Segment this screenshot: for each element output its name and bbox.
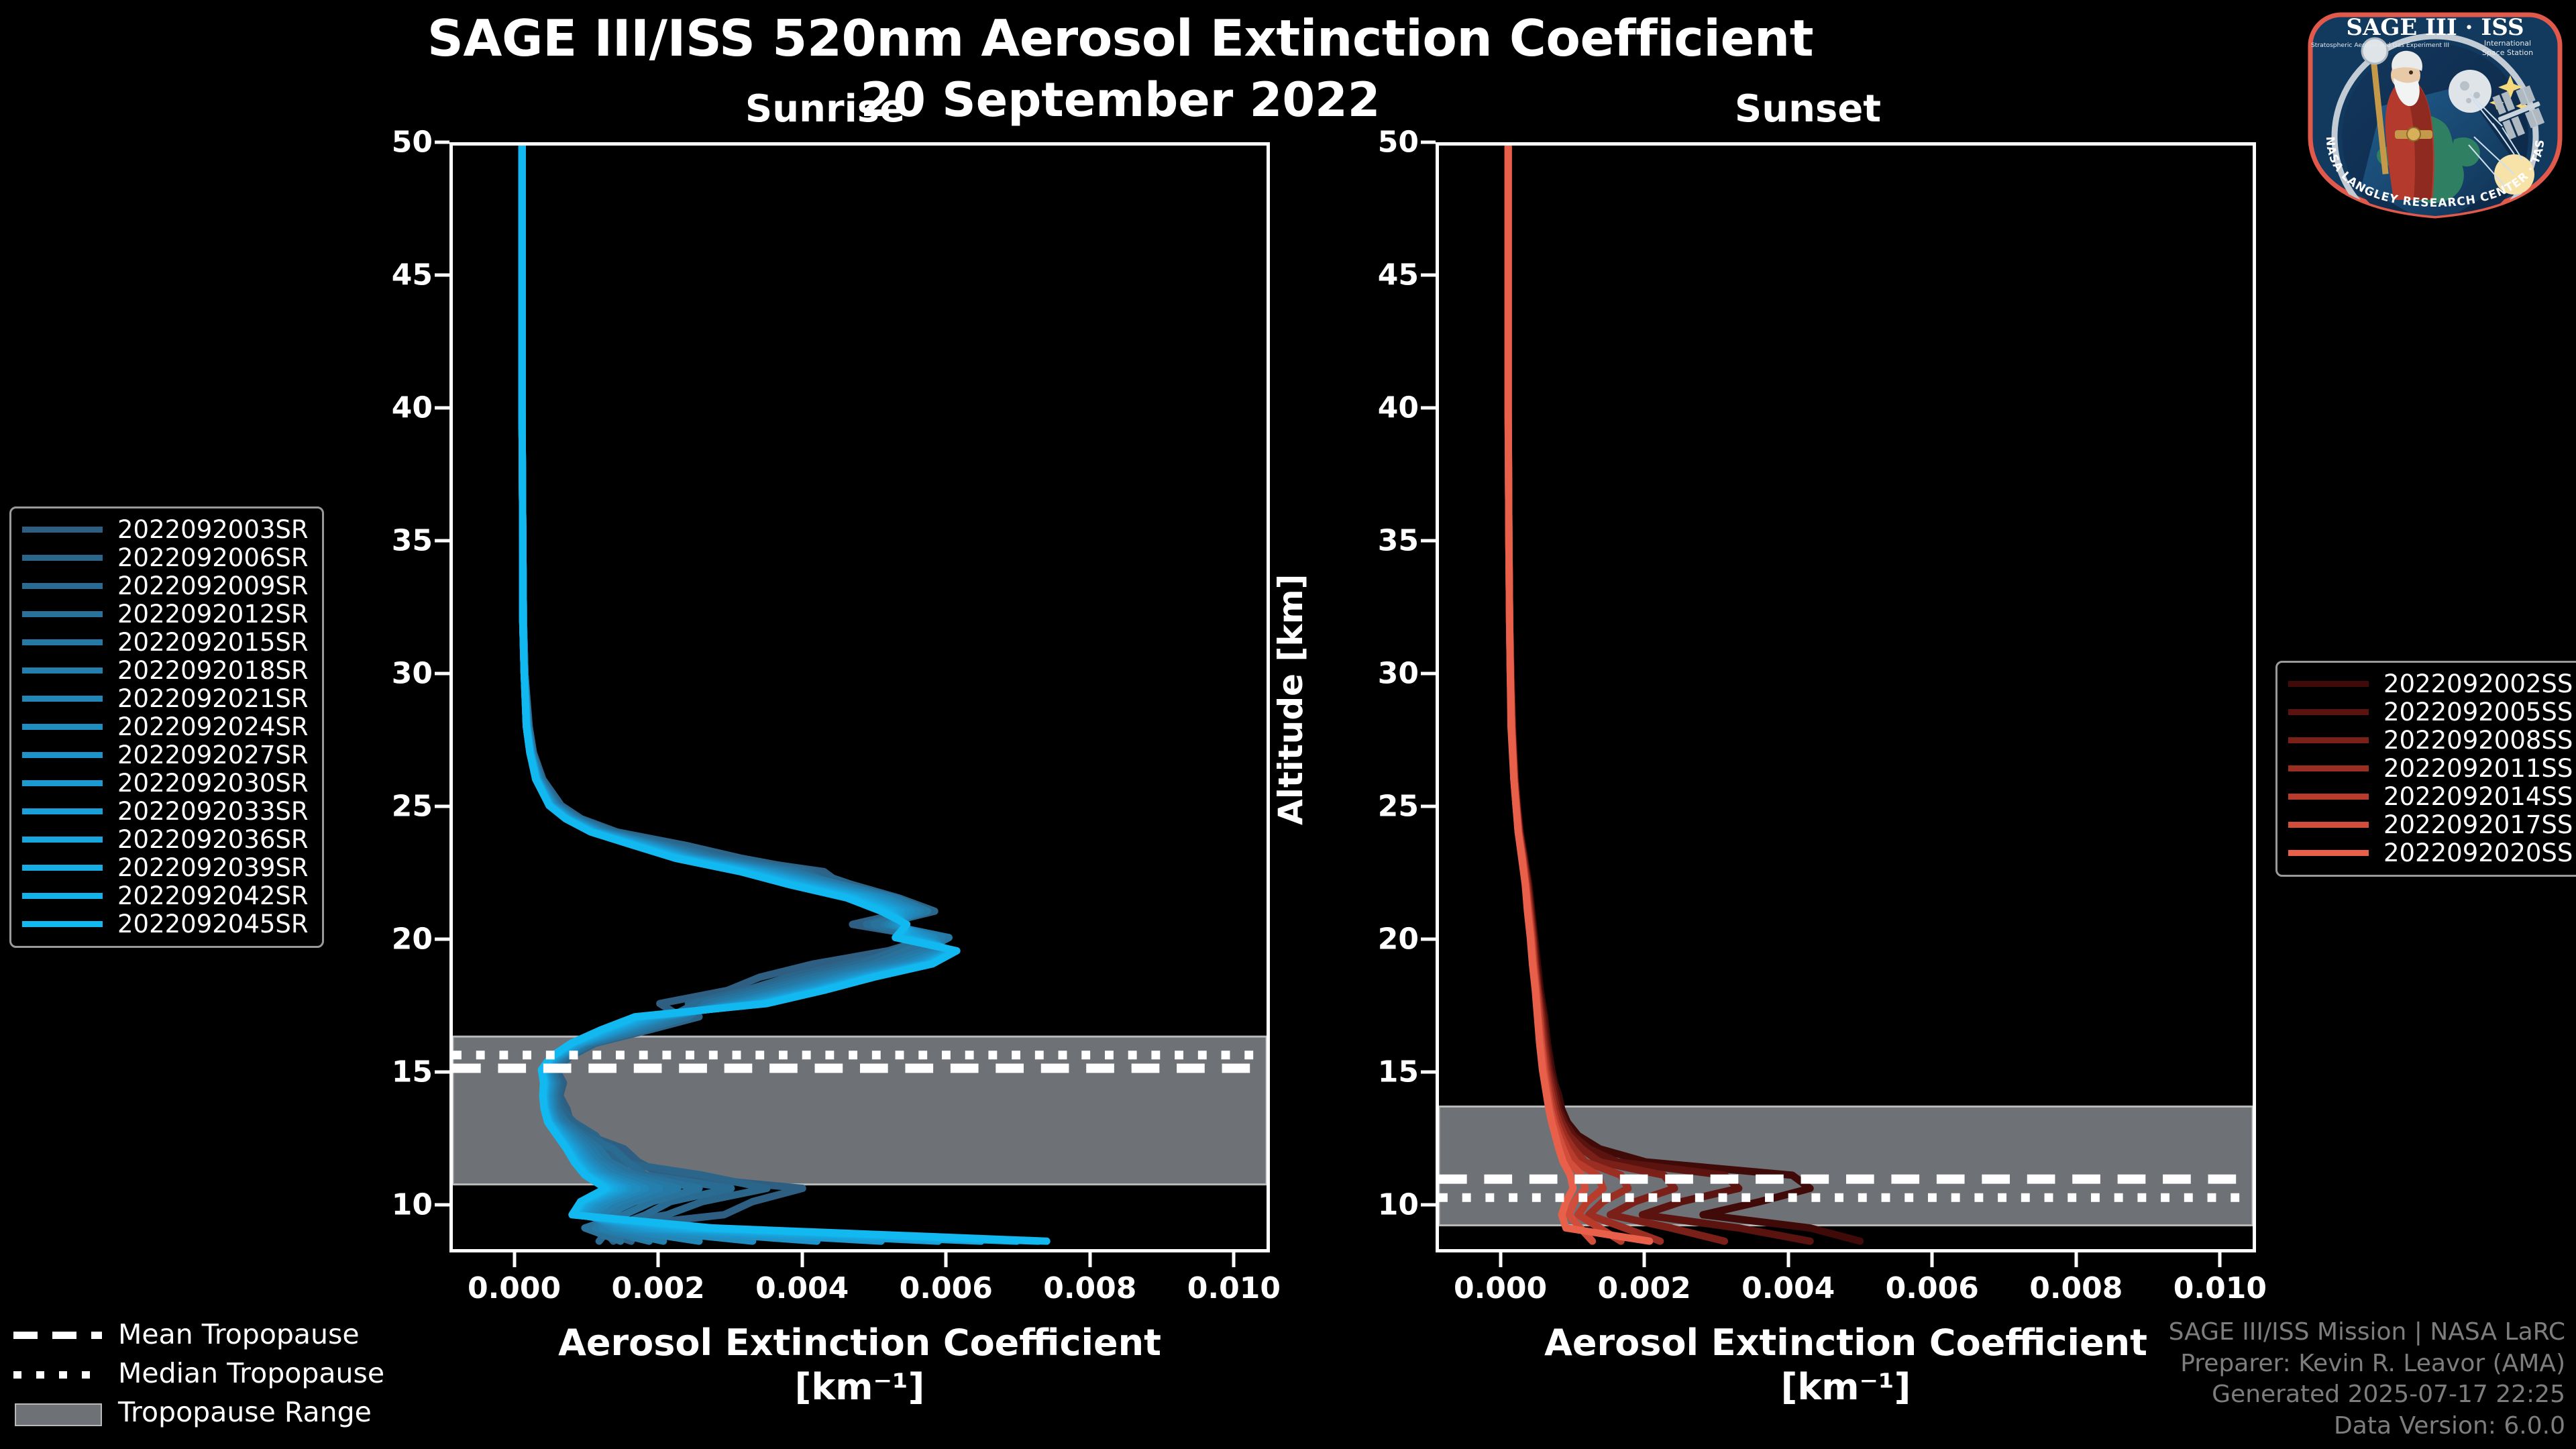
y-axis-tick-label: 40 [332, 390, 433, 425]
legend-color-swatch [22, 752, 103, 758]
legend-color-swatch [2288, 850, 2369, 856]
legend-item-label: 2022092009SR [117, 572, 309, 600]
y-axis-tick-mark [1421, 804, 1436, 808]
legend-item[interactable]: 2022092018SR [22, 656, 309, 684]
profile-line [1508, 146, 1621, 1241]
legend-item[interactable]: 2022092036SR [22, 825, 309, 853]
credits-line: Preparer: Kevin R. Leavor (AMA) [2169, 1348, 2565, 1380]
legend-item-label: 2022092027SR [117, 741, 309, 769]
sage-iii-iss-mission-patch-logo: SAGE III · ISS Stratospheric Aerosol and… [2301, 5, 2569, 219]
legend-item-label: 2022092018SR [117, 656, 309, 685]
legend-item-label: 2022092039SR [117, 853, 309, 882]
y-axis-tick-label: 30 [332, 656, 433, 690]
y-axis-tick-label: 50 [332, 125, 433, 160]
y-axis-tick-mark [1421, 406, 1436, 409]
legend-sunrise-series[interactable]: 2022092003SR2022092006SR2022092009SR2022… [9, 506, 324, 948]
y-axis-tick-label: 45 [1318, 258, 1419, 292]
y-axis-tick-mark [435, 672, 449, 675]
x-axis-tick-mark [513, 1252, 516, 1267]
legend-item[interactable]: 2022092039SR [22, 853, 309, 881]
legend-color-swatch [22, 921, 103, 927]
y-axis-tick-label: 50 [1318, 125, 1419, 160]
y-axis-tick-label: 25 [1318, 789, 1419, 823]
legend-item-label: 2022092003SR [117, 515, 309, 544]
tropopause-legend-glyph [13, 1332, 102, 1339]
legend-item-label: 2022092012SR [117, 600, 309, 629]
legend-color-swatch [22, 780, 103, 786]
x-axis-unit-text: [km⁻¹] [1781, 1366, 1911, 1408]
x-axis-tick-mark [1786, 1252, 1790, 1267]
sunset-profile-svg [1439, 146, 2253, 1249]
y-axis-tick-mark [435, 273, 449, 276]
x-axis-tick-mark [800, 1252, 804, 1267]
legend-sunset-series[interactable]: 2022092002SS2022092005SS2022092008SS2022… [2275, 661, 2576, 877]
legend-item[interactable]: 2022092030SR [22, 769, 309, 797]
y-axis-tick-mark [435, 539, 449, 542]
legend-item-label: 2022092014SS [2383, 782, 2573, 811]
y-axis-tick-label: 35 [332, 523, 433, 557]
legend-item[interactable]: 2022092024SR [22, 712, 309, 741]
sunrise-profile-svg [453, 146, 1267, 1249]
legend-item[interactable]: 2022092008SS [2288, 726, 2573, 754]
legend-color-swatch [22, 893, 103, 899]
legend-color-swatch [2288, 794, 2369, 800]
legend-color-swatch [22, 837, 103, 843]
patch-title: SAGE III · ISS [2346, 14, 2524, 41]
profile-line [1508, 146, 1650, 1241]
legend-item[interactable]: 2022092017SS [2288, 810, 2573, 839]
legend-item[interactable]: 2022092006SR [22, 543, 309, 572]
legend-item[interactable]: 2022092005SS [2288, 698, 2573, 726]
profile-line [1508, 146, 1860, 1241]
y-axis-tick-label: 15 [1318, 1055, 1419, 1089]
tropopause-legend-glyph [13, 1371, 102, 1379]
panel-heading-sunrise: Sunrise [607, 87, 1043, 131]
y-axis-tick-label: 20 [332, 922, 433, 956]
y-axis-tick-label: 10 [1318, 1187, 1419, 1222]
x-axis-tick-mark [2074, 1252, 2078, 1267]
x-axis-unit-text: [km⁻¹] [795, 1366, 925, 1408]
legend-item-label: 2022092008SS [2383, 726, 2573, 755]
tropopause-legend-label: Median Tropopause [118, 1357, 384, 1389]
legend-color-swatch [22, 667, 103, 674]
legend-item[interactable]: 2022092021SR [22, 684, 309, 712]
legend-color-swatch [22, 724, 103, 730]
credits-block: SAGE III/ISS Mission | NASA LaRCPreparer… [2169, 1317, 2565, 1442]
legend-color-swatch [2288, 681, 2369, 687]
legend-item-label: 2022092020SS [2383, 839, 2573, 867]
legend-color-swatch [2288, 709, 2369, 715]
tropopause-legend-key-dotted [13, 1362, 102, 1385]
mission-patch-svg: SAGE III · ISS Stratospheric Aerosol and… [2301, 5, 2569, 219]
legend-item-label: 2022092036SR [117, 825, 309, 854]
y-axis-tick-label: 10 [332, 1187, 433, 1222]
y-axis-tick-mark [1421, 141, 1436, 144]
y-axis-tick-label: 45 [332, 258, 433, 292]
y-axis-tick-mark [435, 1070, 449, 1073]
y-axis-title: Altitude [km] [1271, 574, 1310, 825]
legend-item-label: 2022092030SR [117, 769, 309, 798]
y-axis-tick-mark [1421, 539, 1436, 542]
legend-color-swatch [22, 611, 103, 617]
legend-color-swatch [2288, 737, 2369, 743]
y-axis-tick-label: 25 [332, 789, 433, 823]
x-axis-tick-mark [945, 1252, 948, 1267]
legend-item[interactable]: 2022092033SR [22, 797, 309, 825]
legend-item[interactable]: 2022092027SR [22, 741, 309, 769]
y-axis-tick-mark [1421, 672, 1436, 675]
y-axis-tick-mark [1421, 937, 1436, 941]
x-axis-title: Aerosol Extinction Coefficient[km⁻¹] [1436, 1321, 2256, 1409]
legend-item-label: 2022092002SS [2383, 669, 2573, 698]
legend-item[interactable]: 2022092012SR [22, 600, 309, 628]
plot-area-sunset [1436, 142, 2256, 1252]
x-axis-tick-mark [1643, 1252, 1646, 1267]
tropopause-legend-label: Mean Tropopause [118, 1318, 360, 1350]
legend-item-label: 2022092033SR [117, 797, 309, 826]
plot-area-sunrise [449, 142, 1270, 1252]
legend-item[interactable]: 2022092045SR [22, 910, 309, 938]
legend-item[interactable]: 2022092002SS [2288, 669, 2573, 698]
x-axis-tick-mark [2218, 1252, 2222, 1267]
legend-color-swatch [22, 696, 103, 702]
y-axis-tick-label: 15 [332, 1055, 433, 1089]
legend-item-label: 2022092045SR [117, 910, 309, 938]
x-axis-tick-label: 0.010 [1146, 1271, 1321, 1305]
page-title: SAGE III/ISS 520nm Aerosol Extinction Co… [0, 12, 2241, 64]
legend-item-label: 2022092017SS [2383, 810, 2573, 839]
tropopause-legend-label: Tropopause Range [118, 1396, 372, 1428]
y-axis-tick-mark [1421, 1070, 1436, 1073]
credits-line: Generated 2025-07-17 22:25 [2169, 1379, 2565, 1411]
legend-color-swatch [22, 555, 103, 561]
profile-line [1508, 146, 1660, 1241]
y-axis-tick-label: 35 [1318, 523, 1419, 557]
credits-line: Data Version: 6.0.0 [2169, 1411, 2565, 1442]
profile-line [1508, 146, 1810, 1241]
x-axis-title: Aerosol Extinction Coefficient[km⁻¹] [449, 1321, 1270, 1409]
x-axis-tick-mark [1232, 1252, 1236, 1267]
legend-color-swatch [22, 527, 103, 533]
y-axis-tick-label: 20 [1318, 922, 1419, 956]
legend-item[interactable]: 2022092009SR [22, 572, 309, 600]
patch-subtitle-right-line1: International [2484, 39, 2531, 48]
legend-color-swatch [22, 865, 103, 871]
tropopause-legend-item: Tropopause Range [13, 1393, 384, 1432]
legend-color-swatch [22, 639, 103, 645]
x-axis-tick-label: 0.010 [2133, 1271, 2307, 1305]
legend-item[interactable]: 2022092020SS [2288, 839, 2573, 867]
legend-item-label: 2022092042SR [117, 881, 309, 910]
legend-item[interactable]: 2022092015SR [22, 628, 309, 656]
legend-color-swatch [2288, 822, 2369, 828]
tropopause-legend-item: Median Tropopause [13, 1354, 384, 1393]
patch-subtitle-left: Stratospheric Aerosol and Gas Experiment… [2311, 42, 2449, 49]
panel-heading-sunset: Sunset [1590, 87, 2026, 131]
legend-item-label: 2022092021SR [117, 684, 309, 713]
legend-color-swatch [2288, 765, 2369, 771]
x-axis-tick-mark [1499, 1252, 1502, 1267]
tropopause-legend-key-range [13, 1401, 102, 1424]
x-axis-title-text: Aerosol Extinction Coefficient [558, 1322, 1161, 1364]
legend-item[interactable]: 2022092003SR [22, 515, 309, 543]
legend-item-label: 2022092005SS [2383, 698, 2573, 727]
x-axis-tick-mark [1931, 1252, 1934, 1267]
legend-item[interactable]: 2022092014SS [2288, 782, 2573, 810]
y-axis-tick-label: 30 [1318, 656, 1419, 690]
y-axis-tick-label: 40 [1318, 390, 1419, 425]
legend-color-swatch [22, 583, 103, 589]
legend-item[interactable]: 2022092011SS [2288, 754, 2573, 782]
patch-subtitle-right-line2: Space Station [2482, 48, 2533, 57]
tropopause-legend-glyph [15, 1403, 102, 1426]
legend-item-label: 2022092015SR [117, 628, 309, 657]
y-axis-tick-mark [435, 937, 449, 941]
y-axis-tick-mark [435, 1203, 449, 1206]
x-axis-tick-mark [657, 1252, 660, 1267]
legend-tropopause: Mean TropopauseMedian TropopauseTropopau… [13, 1315, 384, 1432]
y-axis-tick-mark [435, 804, 449, 808]
legend-item-label: 2022092024SR [117, 712, 309, 741]
x-axis-tick-mark [1088, 1252, 1091, 1267]
legend-item-label: 2022092006SR [117, 543, 309, 572]
tropopause-legend-key-dashed [13, 1323, 102, 1346]
legend-item-label: 2022092011SS [2383, 754, 2573, 783]
x-axis-title-text: Aerosol Extinction Coefficient [1544, 1322, 2147, 1364]
y-axis-tick-mark [1421, 273, 1436, 276]
credits-line: SAGE III/ISS Mission | NASA LaRC [2169, 1317, 2565, 1348]
legend-item[interactable]: 2022092042SR [22, 881, 309, 910]
y-axis-tick-mark [435, 406, 449, 409]
y-axis-tick-mark [435, 141, 449, 144]
legend-color-swatch [22, 808, 103, 814]
y-axis-tick-mark [1421, 1203, 1436, 1206]
tropopause-legend-item: Mean Tropopause [13, 1315, 384, 1354]
